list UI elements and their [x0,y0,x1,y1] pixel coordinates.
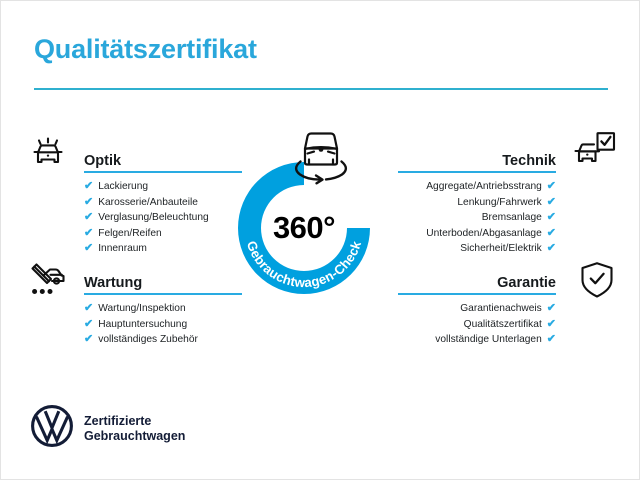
section-technik-header: Technik [398,147,556,173]
list-item-label: Hauptuntersuchung [98,317,187,333]
section-wartung-header: Wartung [84,269,242,295]
section-optik-title: Optik [84,153,121,169]
list-item: ✔vollständige Unterlagen [398,332,556,348]
car-checkbox-icon [573,130,617,177]
section-wartung: Wartung ✔Wartung/Inspektion ✔Hauptunters… [84,269,242,348]
wrench-car-icon [28,260,68,303]
section-garantie-list: ✔Garantienachweis ✔Qualitätszertifikat ✔… [398,301,556,348]
list-item-label: Verglasung/Beleuchtung [98,210,208,226]
check-icon: ✔ [547,226,556,242]
list-item: ✔Wartung/Inspektion [84,301,242,317]
check-icon: ✔ [547,195,556,211]
title-divider [34,88,608,90]
list-item: ✔Hauptuntersuchung [84,317,242,333]
check-icon: ✔ [547,301,556,317]
section-garantie-title: Garantie [497,275,556,291]
list-item-label: Aggregate/Antriebsstrang [426,179,542,195]
list-item-label: Lackierung [98,179,148,195]
list-item: ✔Lenkung/Fahrwerk [398,195,556,211]
check-icon: ✔ [547,179,556,195]
check-icon: ✔ [84,241,93,257]
section-optik-divider [84,171,242,173]
list-item-label: Sicherheit/Elektrik [460,241,542,257]
check-icon: ✔ [84,210,93,226]
check-icon: ✔ [547,210,556,226]
list-item-label: Karosserie/Anbauteile [98,195,198,211]
list-item: ✔Qualitätszertifikat [398,317,556,333]
check-icon: ✔ [84,332,93,348]
list-item: ✔Verglasung/Beleuchtung [84,210,242,226]
check-icon: ✔ [84,179,93,195]
list-item-label: vollständige Unterlagen [435,332,541,348]
list-item: ✔Sicherheit/Elektrik [398,241,556,257]
footer-line-2: Gebrauchtwagen [84,429,185,444]
list-item-label: Unterboden/Abgasanlage [426,226,542,242]
check-icon: ✔ [84,317,93,333]
volkswagen-logo [31,405,73,452]
list-item: ✔Karosserie/Anbauteile [84,195,242,211]
list-item-label: Lenkung/Fahrwerk [457,195,541,211]
list-item: ✔Garantienachweis [398,301,556,317]
car-shine-icon [28,132,68,177]
section-optik-list: ✔Lackierung ✔Karosserie/Anbauteile ✔Verg… [84,179,242,257]
section-technik-divider [398,171,556,173]
list-item: ✔Aggregate/Antriebsstrang [398,179,556,195]
footer-branding: Zertifizierte Gebrauchtwagen [31,405,185,452]
check-icon: ✔ [84,226,93,242]
quality-certificate-page: Qualitätszertifikat [0,0,640,480]
list-item-label: Qualitätszertifikat [464,317,542,333]
list-item-label: Wartung/Inspektion [98,301,185,317]
section-wartung-list: ✔Wartung/Inspektion ✔Hauptuntersuchung ✔… [84,301,242,348]
section-garantie-header: Garantie [398,269,556,295]
check-icon: ✔ [547,317,556,333]
list-item-label: vollständiges Zubehör [98,332,198,348]
list-item-label: Bremsanlage [482,210,542,226]
check-icon: ✔ [84,301,93,317]
car-rotation-icon [276,123,366,185]
section-garantie: Garantie ✔Garantienachweis ✔Qualitätszer… [398,269,556,348]
check-icon: ✔ [84,195,93,211]
list-item: ✔vollständiges Zubehör [84,332,242,348]
list-item-label: Garantienachweis [460,301,542,317]
section-wartung-title: Wartung [84,275,142,291]
section-optik: Optik ✔Lackierung ✔Karosserie/Anbauteile… [84,147,242,257]
section-optik-header: Optik [84,147,242,173]
check-icon: ✔ [547,241,556,257]
footer-wordmark: Zertifizierte Gebrauchtwagen [84,414,185,444]
check-icon: ✔ [547,332,556,348]
list-item: ✔Bremsanlage [398,210,556,226]
page-title: Qualitätszertifikat [34,34,257,65]
list-item: ✔Felgen/Reifen [84,226,242,242]
list-item: ✔Unterboden/Abgasanlage [398,226,556,242]
section-wartung-divider [84,293,242,295]
section-garantie-divider [398,293,556,295]
list-item: ✔Lackierung [84,179,242,195]
section-technik-list: ✔Aggregate/Antriebsstrang ✔Lenkung/Fahrw… [398,179,556,257]
list-item-label: Innenraum [98,241,147,257]
section-technik: Technik ✔Aggregate/Antriebsstrang ✔Lenku… [398,147,556,257]
section-technik-title: Technik [502,153,556,169]
list-item: ✔Innenraum [84,241,242,257]
list-item-label: Felgen/Reifen [98,226,161,242]
footer-line-1: Zertifizierte [84,414,185,429]
shield-check-icon [579,260,615,305]
